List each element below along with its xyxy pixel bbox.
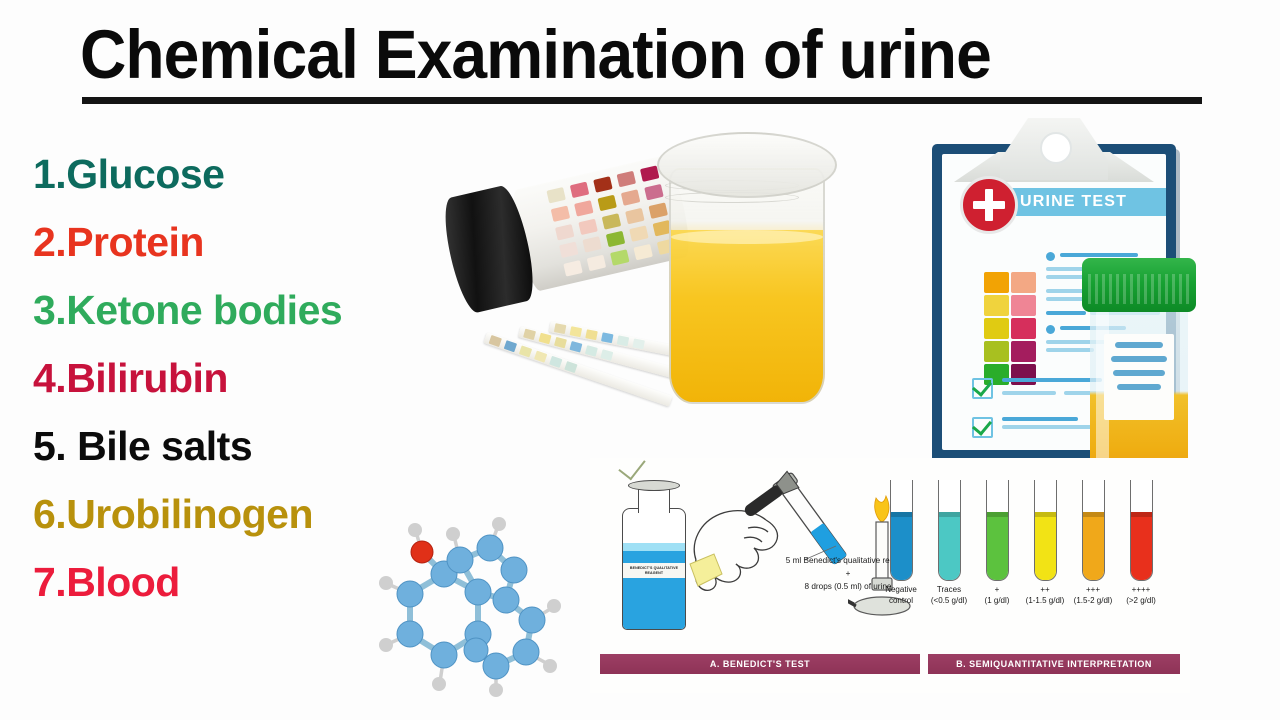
strip-reagent-pad (534, 351, 547, 363)
color-swatch (984, 295, 1009, 316)
dipstick-chart-swatch (578, 218, 597, 234)
strip-reagent-pad (504, 340, 517, 352)
list-item: 5. Bile salts (33, 412, 433, 480)
strip-reagent-pad (523, 329, 536, 341)
strip-reagent-pad (601, 332, 614, 343)
dipstick-chart-swatch (597, 194, 616, 210)
list-item: 1.Glucose (33, 140, 433, 208)
dipstick-chart-swatch (606, 231, 625, 247)
test-tube-liquid (891, 512, 912, 580)
color-swatch (984, 341, 1009, 362)
urine-test-title: URINE TEST (1020, 193, 1127, 211)
test-tube-label-line-2: (>2 g/dl) (1109, 595, 1173, 606)
benedicts-reagent-bottle: BENEDICT'S QUALITATIVE REAGENT (620, 478, 686, 630)
bullet-icon (1046, 252, 1055, 261)
color-swatch (1011, 272, 1036, 293)
dipstick-chart-swatch (587, 255, 606, 271)
strip-reagent-pad (569, 341, 582, 353)
test-tube-label-line-1: ++++ (1109, 584, 1173, 595)
test-tube-glass (938, 480, 961, 581)
reagent-bottle-body: BENEDICT'S QUALITATIVE REAGENT (622, 508, 686, 630)
caption-b-text: B. SEMIQUANTITATIVE INTERPRETATION (956, 659, 1152, 669)
page-title: Chemical Examination of urine (80, 18, 1131, 92)
dipstick-chart-swatch (621, 189, 640, 205)
medical-cross-icon (960, 176, 1018, 234)
test-tube-liquid (987, 512, 1008, 580)
semiquantitative-tube-rack: NegativecontrolTraces(<0.5 g/dl)+(1 g/dl… (890, 480, 1186, 650)
title-block: Chemical Examination of urine (80, 18, 1210, 92)
test-tube-glass (1034, 480, 1057, 581)
strip-reagent-pad (539, 333, 552, 345)
dipstick-chart-swatch (551, 205, 570, 221)
strip-reagent-pad (554, 323, 567, 334)
benedicts-test-figure: BENEDICT'S QUALITATIVE REAGENT (590, 458, 1190, 693)
dipstick-chart-swatch (610, 249, 629, 265)
color-swatch (1011, 318, 1036, 339)
strip-reagent-pad (554, 337, 567, 349)
strip-reagent-pad (585, 345, 598, 357)
test-tube-liquid (939, 512, 960, 580)
list-item: 4.Bilirubin (33, 344, 433, 412)
checkbox[interactable] (972, 417, 993, 438)
test-tube-label: ++++(>2 g/dl) (1109, 584, 1173, 606)
bullet-icon (1046, 325, 1055, 334)
dipstick-chart-swatch (617, 171, 636, 187)
reagent-bottle-neck (638, 488, 670, 513)
test-tube-glass (986, 480, 1009, 581)
cup-lid (657, 132, 837, 198)
strip-reagent-pad (549, 356, 562, 368)
caption-semiquantitative: B. SEMIQUANTITATIVE INTERPRETATION (928, 654, 1180, 674)
test-tube-glass (890, 480, 913, 581)
check-icon (972, 449, 992, 450)
dipstick-chart-swatch (546, 187, 565, 203)
cup-urine-liquid (671, 230, 823, 402)
list-item: 2.Protein (33, 208, 433, 276)
test-tube-liquid (1035, 512, 1056, 580)
list-item: 3.Ketone bodies (33, 276, 433, 344)
color-swatch (1011, 341, 1036, 362)
dipstick-chart-swatch (574, 200, 593, 216)
strip-reagent-pad (617, 335, 630, 346)
color-swatch (984, 318, 1009, 339)
check-icon (972, 376, 992, 397)
test-tube-glass (1082, 480, 1105, 581)
dipstick-chart-swatch (602, 213, 621, 229)
strip-reagent-pad (489, 335, 502, 347)
urine-sample-cup (655, 132, 835, 410)
cup-body (669, 168, 825, 404)
reagent-bottle-label: BENEDICT'S QUALITATIVE REAGENT (623, 563, 685, 578)
title-underline (82, 97, 1202, 104)
dipstick-chart-swatch (563, 260, 582, 276)
strip-reagent-pad (519, 345, 532, 357)
strip-reagent-pad (600, 349, 613, 361)
color-swatch-grid (984, 272, 1036, 385)
molecule-ball-and-stick-icon (372, 512, 562, 697)
dipstick-chart-swatch (629, 226, 648, 242)
color-swatch (984, 272, 1009, 293)
dipstick-chart-swatch (633, 244, 652, 260)
check-icon (972, 415, 992, 436)
color-swatch (1011, 295, 1036, 316)
dipstick-chart-swatch (559, 242, 578, 258)
urine-test-banner: URINE TEST (1008, 188, 1166, 216)
caption-a-text: A. BENEDICT'S TEST (710, 659, 810, 669)
clipboard-clip-hole (1040, 132, 1072, 164)
strip-reagent-pad (585, 329, 598, 340)
dipstick-chart-swatch (555, 224, 574, 240)
tick-mark-icon (618, 452, 645, 481)
reagent-bottle-label-text: BENEDICT'S QUALITATIVE REAGENT (623, 566, 685, 575)
test-tube-liquid (1083, 512, 1104, 580)
strip-reagent-pad (564, 361, 577, 373)
jar-label (1104, 334, 1174, 420)
reagent-bottle-lip (628, 480, 680, 491)
test-tube-glass (1130, 480, 1153, 581)
dipstick-chart-swatch (570, 182, 589, 198)
checkbox[interactable] (972, 378, 993, 399)
strip-reagent-pad (570, 326, 583, 337)
strip-reagent-pad (632, 338, 645, 349)
reagent-liquid (623, 543, 685, 629)
dipstick-chart-swatch (582, 236, 601, 252)
jar-cap (1082, 258, 1196, 312)
liquid-surface (671, 230, 823, 244)
test-tube-liquid (1131, 512, 1152, 580)
dipstick-chart-swatch (625, 207, 644, 223)
dipstick-chart-swatch (593, 176, 612, 192)
caption-benedicts-test: A. BENEDICT'S TEST (600, 654, 920, 674)
